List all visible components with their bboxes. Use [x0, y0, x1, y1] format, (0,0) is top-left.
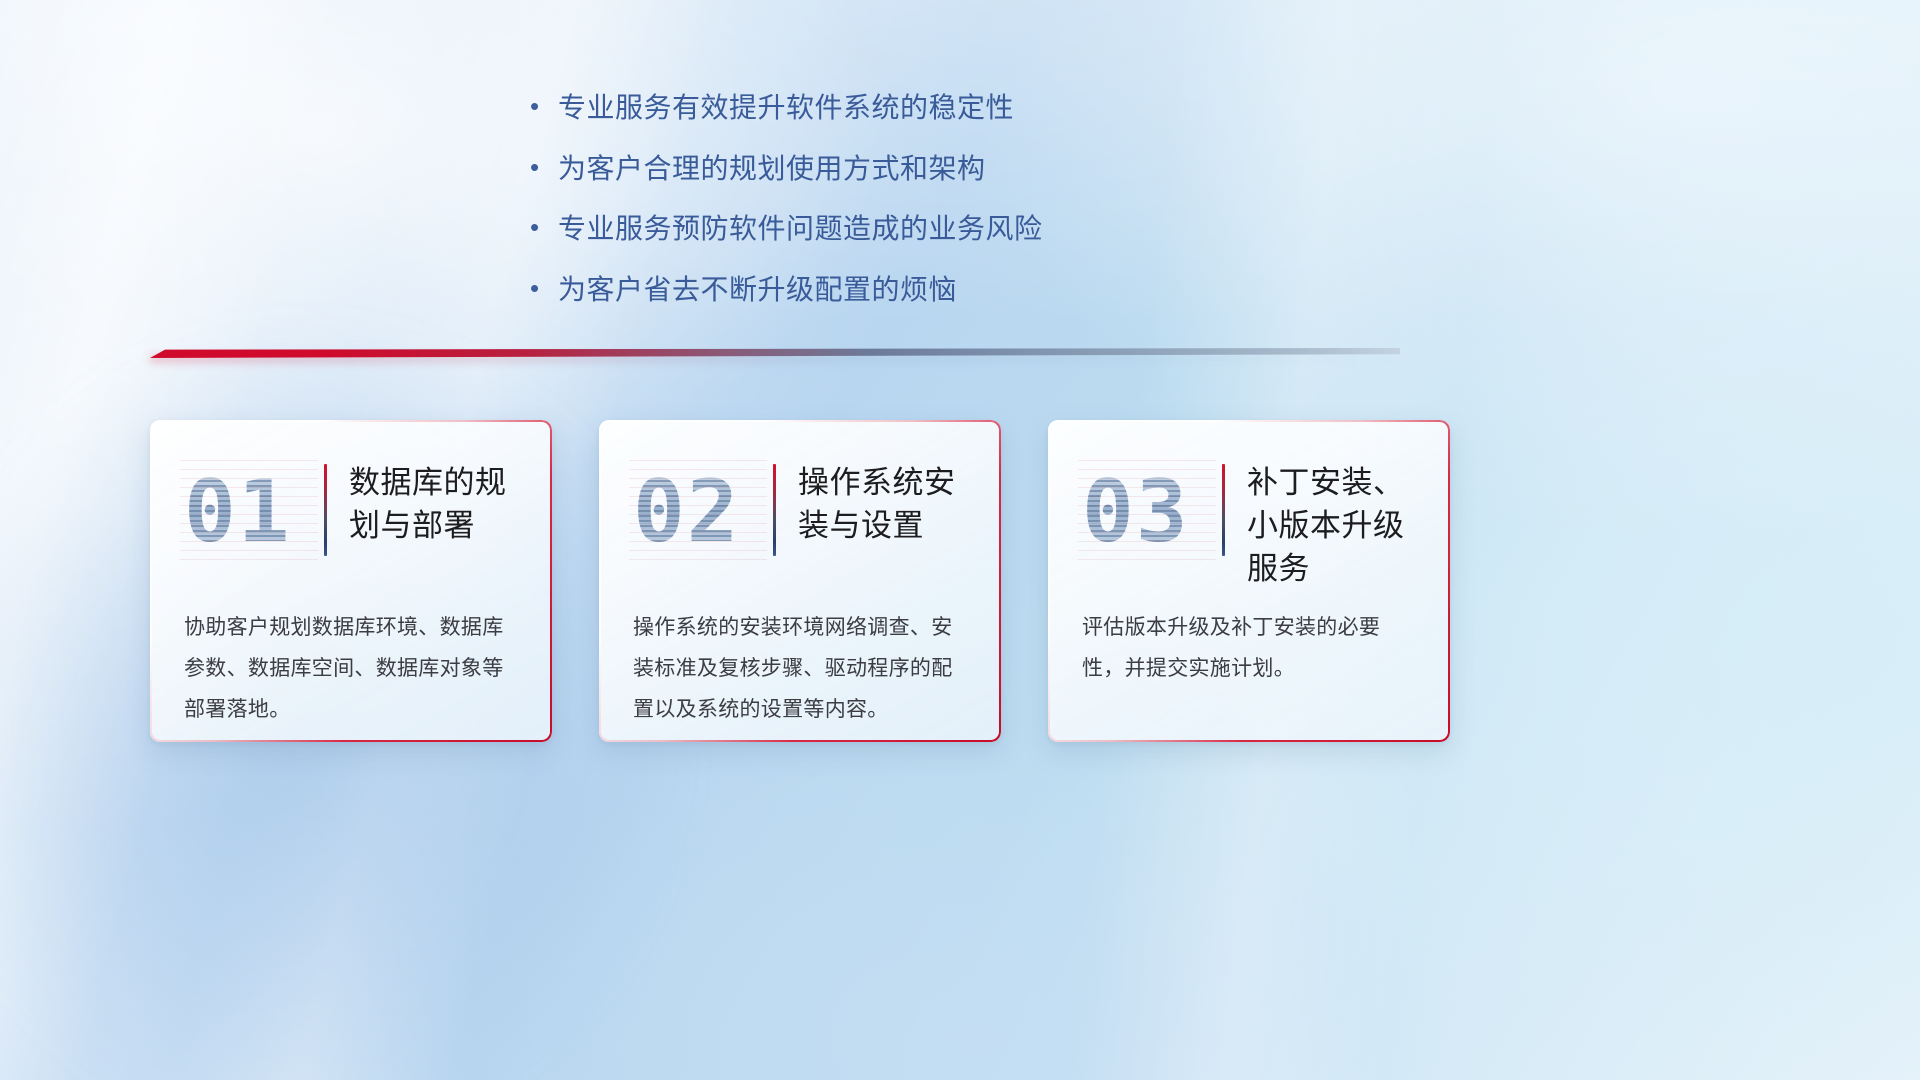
card-content: 02 操作系统安装与设置 操作系统的安装环境网络调查、安装标准及复核步骤、驱动程… [599, 420, 1001, 742]
card-item[interactable]: 03 补丁安装、小版本升级服务 评估版本升级及补丁安装的必要性，并提交实施计划。 [1048, 420, 1450, 742]
bullet-text: 为客户省去不断升级配置的烦恼 [558, 270, 957, 311]
list-item: • 为客户合理的规划使用方式和架构 [530, 149, 1350, 190]
card-item[interactable]: 02 操作系统安装与设置 操作系统的安装环境网络调查、安装标准及复核步骤、驱动程… [599, 420, 1001, 742]
card-title: 操作系统安装与设置 [798, 458, 967, 548]
card-accent-bar [324, 464, 327, 556]
card-body-text: 操作系统的安装环境网络调查、安装标准及复核步骤、驱动程序的配置以及系统的设置等内… [633, 608, 967, 731]
section-divider [150, 348, 1400, 364]
card-content: 01 数据库的规划与部署 协助客户规划数据库环境、数据库参数、数据库空间、数据库… [150, 420, 552, 742]
bullet-dot-icon: • [530, 93, 558, 119]
list-item: • 为客户省去不断升级配置的烦恼 [530, 270, 1350, 311]
card-header: 01 数据库的规划与部署 [184, 458, 518, 570]
card-title: 补丁安装、小版本升级服务 [1247, 458, 1416, 590]
card-header: 02 操作系统安装与设置 [633, 458, 967, 570]
bullet-text: 专业服务有效提升软件系统的稳定性 [558, 88, 1014, 129]
bullet-text: 专业服务预防软件问题造成的业务风险 [558, 209, 1043, 250]
bullet-list: • 专业服务有效提升软件系统的稳定性 • 为客户合理的规划使用方式和架构 • 专… [530, 88, 1350, 330]
slide-canvas: • 专业服务有效提升软件系统的稳定性 • 为客户合理的规划使用方式和架构 • 专… [0, 0, 1920, 1080]
card-body-text: 协助客户规划数据库环境、数据库参数、数据库空间、数据库对象等部署落地。 [184, 608, 518, 731]
bullet-dot-icon: • [530, 214, 558, 240]
card-content: 03 补丁安装、小版本升级服务 评估版本升级及补丁安装的必要性，并提交实施计划。 [1048, 420, 1450, 742]
bullet-dot-icon: • [530, 154, 558, 180]
bullet-dot-icon: • [530, 275, 558, 301]
card-item[interactable]: 01 数据库的规划与部署 协助客户规划数据库环境、数据库参数、数据库空间、数据库… [150, 420, 552, 742]
card-accent-bar [773, 464, 776, 556]
card-accent-bar [1222, 464, 1225, 556]
list-item: • 专业服务预防软件问题造成的业务风险 [530, 209, 1350, 250]
card-body-text: 评估版本升级及补丁安装的必要性，并提交实施计划。 [1082, 608, 1416, 690]
card-number: 03 [1082, 460, 1212, 564]
card-number: 02 [633, 460, 763, 564]
card-title: 数据库的规划与部署 [349, 458, 518, 548]
list-item: • 专业服务有效提升软件系统的稳定性 [530, 88, 1350, 129]
bullet-text: 为客户合理的规划使用方式和架构 [558, 149, 986, 190]
card-number: 01 [184, 460, 314, 564]
card-header: 03 补丁安装、小版本升级服务 [1082, 458, 1416, 570]
card-group: 01 数据库的规划与部署 协助客户规划数据库环境、数据库参数、数据库空间、数据库… [150, 420, 1450, 742]
